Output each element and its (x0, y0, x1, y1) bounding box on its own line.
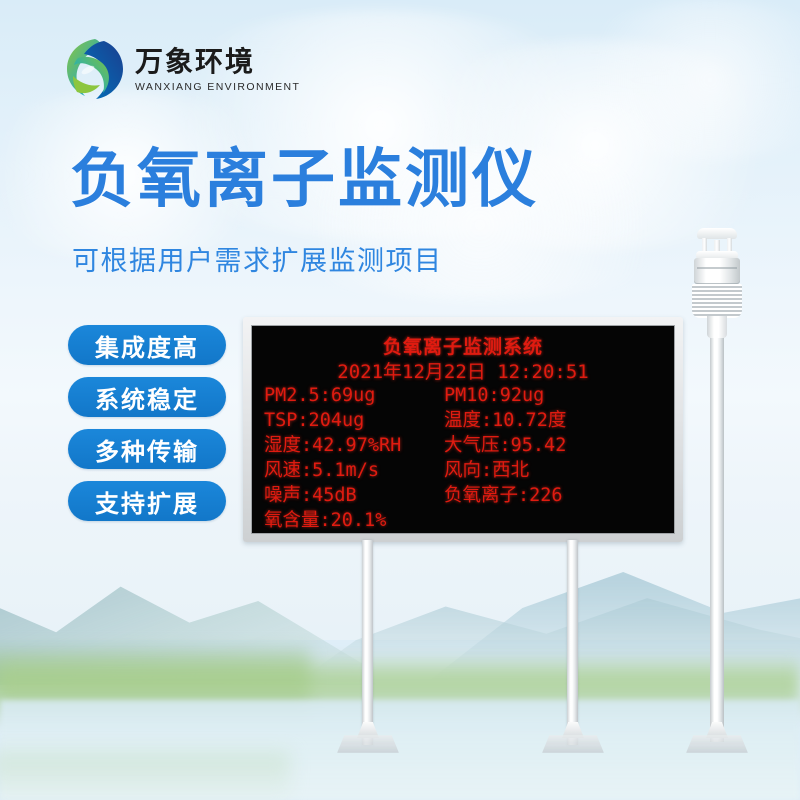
led-screen-title: 负氧离子监测系统 (252, 332, 674, 359)
led-screen: 负氧离子监测系统 2021年12月22日 12:20:51 PM2.5:69ug… (251, 325, 675, 534)
page-subtitle: 可根据用户需求扩展监测项目 (72, 239, 443, 278)
feature-badge-1[interactable]: 集成度高 (68, 325, 226, 365)
led-datetime: 2021年12月22日 12:20:51 (252, 357, 674, 384)
product-banner: 万象环境 WANXIANG ENVIRONMENT 负氧离子监测仪 可根据用户需… (0, 0, 800, 800)
reading-pressure: 大气压:95.42 (444, 434, 666, 457)
reading-wind-speed: 风速:5.1m/s (264, 459, 444, 482)
feature-badge-4[interactable]: 支持扩展 (68, 481, 226, 521)
feature-badge-2[interactable]: 系统稳定 (68, 377, 226, 417)
feature-badge-3[interactable]: 多种传输 (68, 429, 226, 469)
brand-name-en: WANXIANG ENVIRONMENT (135, 81, 300, 93)
support-pole-right (567, 540, 578, 745)
sensor-body (694, 258, 740, 284)
feature-badge-list: 集成度高 系统稳定 多种传输 支持扩展 (68, 325, 226, 521)
reading-tsp: TSP:204ug (264, 409, 444, 432)
reading-negative-ion: 负氧离子:226 (444, 484, 666, 507)
reading-noise: 噪声:45dB (264, 484, 444, 507)
radiation-shield (692, 284, 742, 318)
pole-base-plate (337, 735, 399, 753)
brand-name-cn: 万象环境 (135, 47, 300, 78)
reading-wind-direction: 风向:西北 (444, 459, 666, 482)
water-band (0, 752, 290, 800)
reading-empty (444, 509, 666, 532)
page-title: 负氧离子监测仪 (70, 147, 539, 214)
pole-base-plate (686, 735, 748, 753)
globe-swirl-icon (64, 36, 126, 102)
led-readings-grid: PM2.5:69ug PM10:92ug TSP:204ug 温度:10.72度… (264, 384, 666, 532)
led-display-board: 负氧离子监测系统 2021年12月22日 12:20:51 PM2.5:69ug… (243, 317, 683, 542)
support-pole-left (362, 540, 373, 745)
pole-base-plate (542, 735, 604, 753)
reading-pm10: PM10:92ug (444, 384, 666, 407)
reading-oxygen: 氧含量:20.1% (264, 509, 444, 532)
sensor-mast-pole (710, 330, 724, 742)
sensor-neck (707, 316, 727, 338)
brand-logo: 万象环境 WANXIANG ENVIRONMENT (64, 36, 300, 102)
ultrasonic-weather-sensor-icon (683, 228, 751, 336)
reading-humidity: 湿度:42.97%RH (264, 434, 444, 457)
reading-pm25: PM2.5:69ug (264, 384, 444, 407)
reading-temperature: 温度:10.72度 (444, 409, 666, 432)
